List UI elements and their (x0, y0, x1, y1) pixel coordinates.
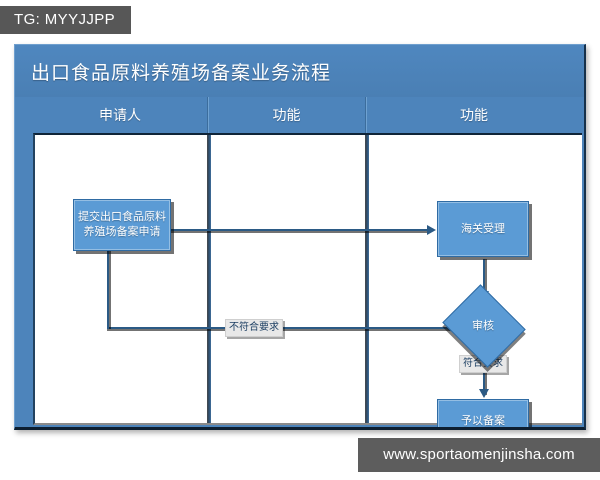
lane-header-applicant: 申请人 (33, 97, 207, 133)
lane-header-function-2: 功能 (365, 97, 582, 133)
lane-body: 不符合要求 符合要求 提交出口食品原料 养殖场备案申请 海关受理 审核 予以备案 (33, 133, 582, 425)
node-review-decision[interactable]: 审核 (452, 299, 514, 351)
diagram-title: 出口食品原料养殖场备案业务流程 (31, 58, 331, 85)
lane-header-row: 申请人 功能 功能 (15, 97, 584, 133)
node-review-label: 审核 (452, 299, 514, 351)
connector-submit-to-accept (171, 229, 429, 231)
node-grant-record[interactable]: 予以备案 (437, 399, 529, 430)
lane-header-spacer (15, 97, 33, 133)
flowchart-diagram: 出口食品原料养殖场备案业务流程 申请人 功能 功能 不符合要求 符合要求 (14, 44, 586, 430)
tg-tag: TG: MYYJJPP (0, 6, 131, 34)
diagram-title-band: 出口食品原料养殖场备案业务流程 (15, 45, 584, 97)
node-submit-application[interactable]: 提交出口食品原料 养殖场备案申请 (73, 199, 171, 251)
watermark: www.sportaomenjinsha.com (358, 438, 600, 472)
arrowhead-to-customs-accept (427, 225, 436, 235)
lane-divider-2 (365, 135, 369, 423)
lane-divider-1 (207, 135, 211, 423)
node-customs-acceptance[interactable]: 海关受理 (437, 201, 529, 257)
edge-label-not-conform: 不符合要求 (225, 319, 283, 337)
lane-header-function-1: 功能 (207, 97, 365, 133)
node-submit-line-1: 提交出口食品原料 (78, 210, 166, 225)
arrowhead-to-record (479, 389, 489, 398)
node-submit-line-2: 养殖场备案申请 (84, 225, 161, 240)
